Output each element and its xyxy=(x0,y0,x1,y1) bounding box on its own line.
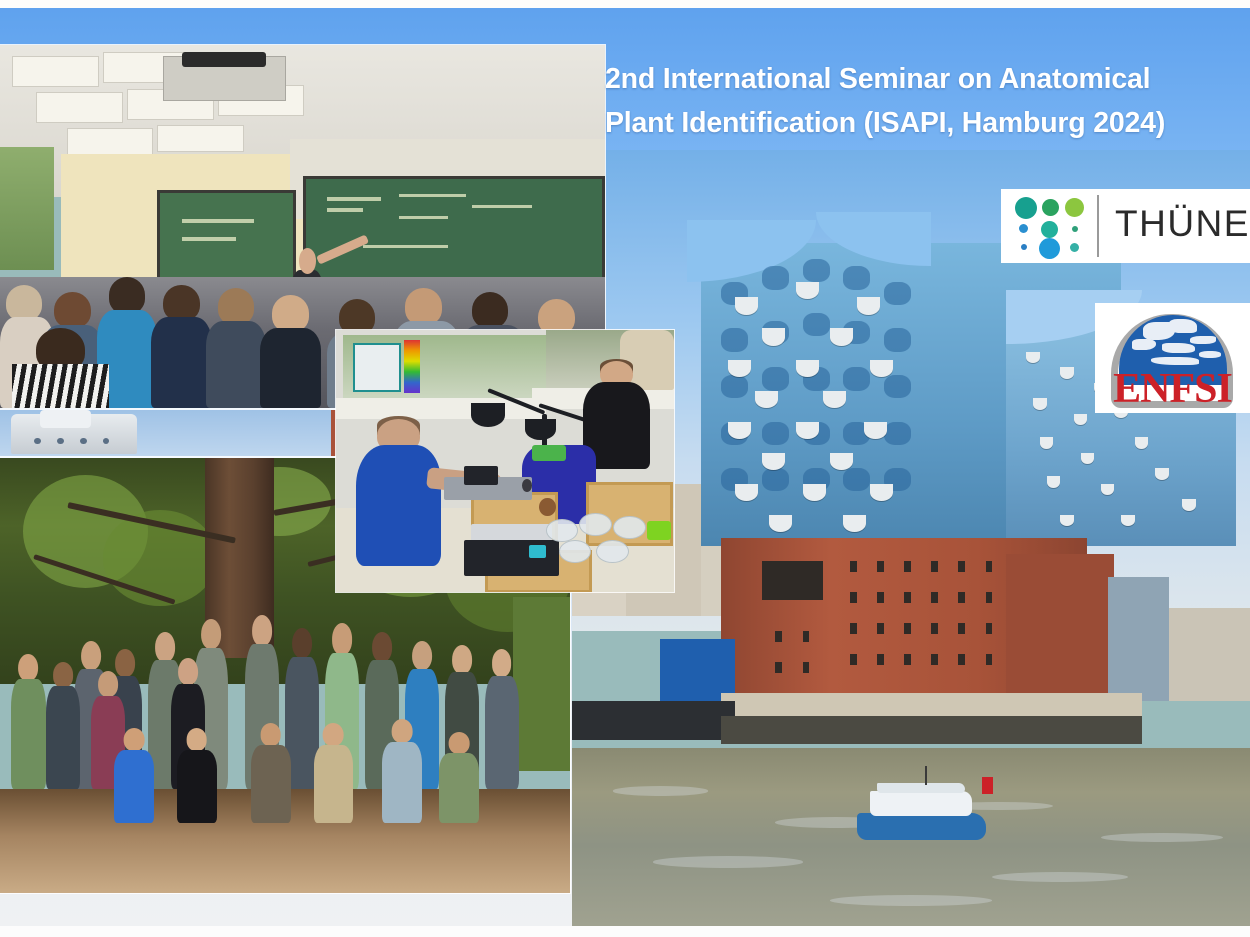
brick-window xyxy=(877,561,884,572)
balcony-scoop xyxy=(803,484,826,501)
tour-boat-hull xyxy=(857,813,986,839)
balcony-scoop xyxy=(830,328,853,345)
europe-landmass xyxy=(1162,343,1194,353)
glass-pane xyxy=(762,266,789,289)
chalk-sketch xyxy=(399,194,466,198)
poster-canvas: 2nd International Seminar on Anatomical … xyxy=(0,0,1250,937)
chalk-sketch xyxy=(182,219,255,223)
thunen-dot xyxy=(1019,224,1028,233)
thunen-dot xyxy=(1065,198,1084,217)
striped-shirt xyxy=(12,364,109,408)
glass-pane xyxy=(843,266,870,289)
thunen-dot xyxy=(1039,238,1060,259)
person-head xyxy=(252,615,272,646)
ceiling-tile xyxy=(67,128,154,155)
group-person-front xyxy=(251,723,291,823)
europe-landmass xyxy=(1199,351,1221,358)
person-head xyxy=(448,732,469,754)
person-head xyxy=(391,719,412,743)
person-body xyxy=(314,745,354,823)
logo-thunen: THÜNEN xyxy=(1001,189,1250,263)
glass-pane xyxy=(721,375,748,398)
chalk-sketch xyxy=(327,208,363,212)
audience-head xyxy=(272,295,308,331)
balcony-scoop xyxy=(864,422,887,439)
glass-pane xyxy=(843,367,870,390)
europe-landmass xyxy=(1190,336,1216,344)
brick-window xyxy=(904,592,911,603)
balcony-scoop xyxy=(735,297,758,314)
glass-pane xyxy=(884,282,911,305)
group-person xyxy=(485,649,519,788)
petri-dish xyxy=(596,540,628,563)
ship-bridge xyxy=(40,410,91,428)
person-body xyxy=(251,745,291,823)
thunen-wordmark: THÜNEN xyxy=(1115,203,1250,245)
group-person xyxy=(46,662,80,788)
balcony-scoop xyxy=(857,297,880,314)
person-body xyxy=(439,753,479,823)
audience-torso xyxy=(151,317,212,408)
balcony-scoop xyxy=(1033,398,1047,410)
document-binder xyxy=(353,343,401,392)
water-ripple xyxy=(830,895,993,906)
petri-dish xyxy=(559,540,591,563)
audience-head xyxy=(109,277,145,313)
balcony-scoop xyxy=(762,453,785,470)
elbe-brick-base-right xyxy=(1006,554,1114,701)
chalk-sketch xyxy=(182,237,236,241)
tour-boat-cabin xyxy=(870,791,972,816)
balcony-scoop xyxy=(830,453,853,470)
brick-window xyxy=(904,623,911,634)
brick-window xyxy=(958,592,965,603)
glass-pane xyxy=(843,468,870,491)
person-head xyxy=(412,641,432,671)
glass-pane xyxy=(762,468,789,491)
brick-window xyxy=(850,654,857,665)
title-line-1: 2nd International Seminar on Anatomical xyxy=(605,57,1250,101)
water-ripple xyxy=(992,872,1128,882)
brick-window xyxy=(877,654,884,665)
window-left xyxy=(0,147,54,270)
balcony-scoop xyxy=(796,282,819,299)
bottom-margin-strip xyxy=(0,926,1250,937)
balcony-scoop xyxy=(796,422,819,439)
projector-mount xyxy=(182,52,267,67)
thunen-dot xyxy=(1042,199,1059,216)
balcony-scoop xyxy=(1155,468,1169,480)
presenter-head xyxy=(299,248,316,273)
balcony-scoop xyxy=(796,360,819,377)
brick-window xyxy=(850,592,857,603)
glass-pane xyxy=(884,328,911,351)
brick-window xyxy=(775,662,782,673)
audience-torso xyxy=(260,328,321,408)
audience-head xyxy=(218,288,254,324)
ceiling-tile xyxy=(12,56,99,87)
thunen-dot xyxy=(1021,244,1027,250)
person-head xyxy=(186,728,207,751)
person-body xyxy=(11,679,45,788)
audience-head xyxy=(472,292,508,328)
brick-window xyxy=(958,623,965,634)
tour-boat-roof xyxy=(877,783,965,792)
water-ripple xyxy=(653,856,802,868)
thunen-dot xyxy=(1072,226,1078,232)
person-head xyxy=(332,623,352,654)
water-ripple xyxy=(613,786,708,795)
balcony-scoop xyxy=(755,391,778,408)
rainbow-chart xyxy=(404,340,421,392)
boat-flag xyxy=(982,777,993,794)
group-person-front xyxy=(382,719,422,823)
balcony-scoop xyxy=(735,484,758,501)
person-head xyxy=(452,645,472,674)
skyline-tower-right xyxy=(1108,577,1169,701)
ship-porthole xyxy=(34,438,41,444)
green-tray xyxy=(532,445,566,461)
pier-dark xyxy=(572,701,735,740)
person-head xyxy=(19,654,39,681)
audience-head xyxy=(163,285,199,321)
brick-window xyxy=(850,561,857,572)
researcher-blue-shirt xyxy=(356,445,441,566)
balcony-scoop xyxy=(1040,437,1054,449)
brick-window xyxy=(803,662,810,673)
chalk-sketch xyxy=(363,245,448,249)
brick-window xyxy=(904,654,911,665)
person-head xyxy=(178,658,198,685)
person-head xyxy=(292,628,312,659)
person-body xyxy=(114,750,154,824)
person-head xyxy=(53,662,73,687)
audience-torso xyxy=(206,321,267,408)
grass-right xyxy=(513,597,570,771)
brick-window xyxy=(986,561,993,572)
ceiling-tile xyxy=(36,92,123,123)
group-person-front xyxy=(114,728,154,824)
balcony-scoop xyxy=(1135,437,1149,449)
balcony-scoop xyxy=(1047,476,1061,488)
balcony-scoop xyxy=(1060,367,1074,379)
petri-dish xyxy=(546,519,578,542)
brick-window xyxy=(958,561,965,572)
brick-window xyxy=(877,623,884,634)
group-person-front xyxy=(439,732,479,823)
glass-pane xyxy=(721,328,748,351)
brick-window xyxy=(986,623,993,634)
balcony-scoop xyxy=(728,360,751,377)
ship-porthole xyxy=(57,438,64,444)
person-body xyxy=(382,742,422,823)
europe-landmass xyxy=(1132,339,1156,350)
brick-window xyxy=(986,592,993,603)
page-title: 2nd International Seminar on Anatomical … xyxy=(605,57,1250,145)
brick-window xyxy=(931,592,938,603)
person-body xyxy=(46,686,80,788)
balcony-scoop xyxy=(823,391,846,408)
cyan-block xyxy=(529,545,546,558)
brick-window xyxy=(877,592,884,603)
brick-window xyxy=(904,561,911,572)
audience-head xyxy=(54,292,90,328)
thunen-dot xyxy=(1070,243,1079,252)
balcony-scoop xyxy=(1182,499,1196,511)
petri-dish xyxy=(613,516,645,539)
pier-dark-2 xyxy=(721,716,1141,743)
microtome-knob xyxy=(539,498,556,516)
chalk-sketch xyxy=(472,205,533,209)
balcony-scoop xyxy=(728,422,751,439)
glass-pane xyxy=(762,422,789,445)
brick-window xyxy=(931,561,938,572)
group-person-front xyxy=(314,723,354,823)
brick-window xyxy=(931,654,938,665)
logo-enfsi: ENFSI xyxy=(1095,303,1250,413)
enfsi-wordmark: ENFSI xyxy=(1095,365,1250,413)
title-line-2: Plant Identification (ISAPI, Hamburg 202… xyxy=(605,101,1250,145)
audience-head xyxy=(405,288,441,324)
glass-pane xyxy=(762,367,789,390)
person-head xyxy=(260,723,281,746)
balcony-scoop xyxy=(762,328,785,345)
glass-pane xyxy=(803,259,830,282)
audience-head xyxy=(6,285,42,321)
thunen-dot xyxy=(1041,221,1058,238)
lamp-shade xyxy=(471,403,505,427)
glass-pane xyxy=(803,313,830,336)
person-head xyxy=(201,619,221,650)
skyline-tower-right-2 xyxy=(1169,608,1250,701)
brick-large-window xyxy=(762,561,823,600)
ceiling-tile xyxy=(157,125,244,152)
person-head xyxy=(81,641,101,671)
thunen-dot xyxy=(1015,197,1037,219)
top-margin-strip xyxy=(0,0,1250,8)
group-person xyxy=(11,654,45,789)
ship-porthole xyxy=(80,438,87,444)
person-head xyxy=(492,649,512,677)
brick-window xyxy=(850,623,857,634)
brick-window xyxy=(775,631,782,642)
photo-lab-microtome xyxy=(336,330,674,592)
boat-mast xyxy=(925,766,928,785)
brick-window xyxy=(803,631,810,642)
microtome-block xyxy=(464,466,498,484)
thunen-divider xyxy=(1097,195,1099,257)
person-body xyxy=(485,676,519,789)
balcony-scoop xyxy=(870,360,893,377)
person-head xyxy=(98,671,118,697)
thunen-dot-pattern xyxy=(1015,197,1087,255)
lamp-shade xyxy=(525,419,555,440)
chalk-sketch xyxy=(327,197,381,201)
glass-pane xyxy=(884,422,911,445)
balcony-scoop xyxy=(870,484,893,501)
europe-landmass xyxy=(1169,319,1197,333)
group-person-front xyxy=(177,728,217,824)
balcony-scoop xyxy=(769,515,792,532)
brick-window xyxy=(986,654,993,665)
glass-pane xyxy=(884,375,911,398)
person-head xyxy=(372,632,392,662)
person-body xyxy=(177,750,217,824)
balcony-scoop xyxy=(843,515,866,532)
chalk-sketch xyxy=(399,216,447,220)
green-specimen-holder xyxy=(647,521,671,539)
person-head xyxy=(124,728,145,751)
brick-window xyxy=(931,623,938,634)
brick-window xyxy=(958,654,965,665)
person-head xyxy=(323,723,344,746)
water-ripple xyxy=(1101,833,1223,842)
